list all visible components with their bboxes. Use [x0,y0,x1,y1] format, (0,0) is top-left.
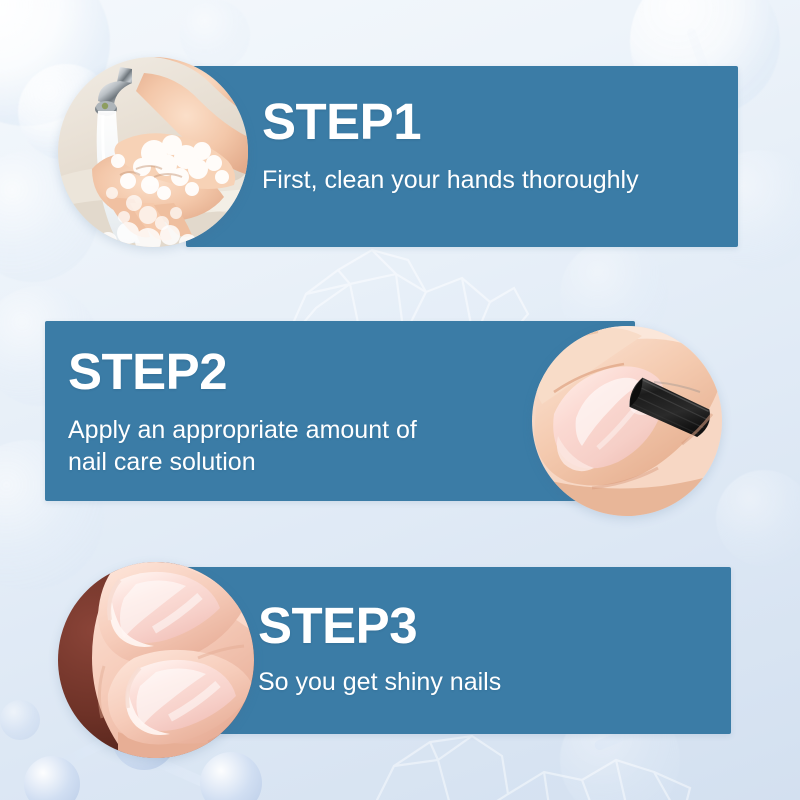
brush-applying-solution-photo [532,326,722,516]
step-2-title: STEP2 [68,346,417,397]
step-2-description: Apply an appropriate amount of nail care… [68,415,417,478]
step-1-title: STEP1 [262,96,639,147]
washing-hands-photo [58,57,248,247]
crystal-wireframe-icon [368,732,698,800]
bubble-decoration [180,0,250,70]
step-2-description-line-1: Apply an appropriate amount of [68,415,417,447]
step-3-description: So you get shiny nails [258,667,501,699]
washing-hands-illustration [58,57,248,247]
step-3-title: STEP3 [258,600,501,651]
molecule-node [0,700,40,740]
shiny-nails-photo [58,562,254,758]
shiny-nails-illustration [58,562,254,758]
molecule-node [200,752,262,800]
step-1-text-block: STEP1 First, clean your hands thoroughly [262,96,639,197]
step-poster: STEP1 First, clean your hands thoroughly [0,0,800,800]
step-1-description: First, clean your hands thoroughly [262,165,639,197]
bubble-decoration [716,470,800,566]
brush-on-nail-illustration [532,326,722,516]
step-2-text-block: STEP2 Apply an appropriate amount of nai… [68,346,417,478]
molecule-node [24,756,80,800]
step-2-description-line-2: nail care solution [68,447,417,479]
step-3-text-block: STEP3 So you get shiny nails [258,600,501,699]
